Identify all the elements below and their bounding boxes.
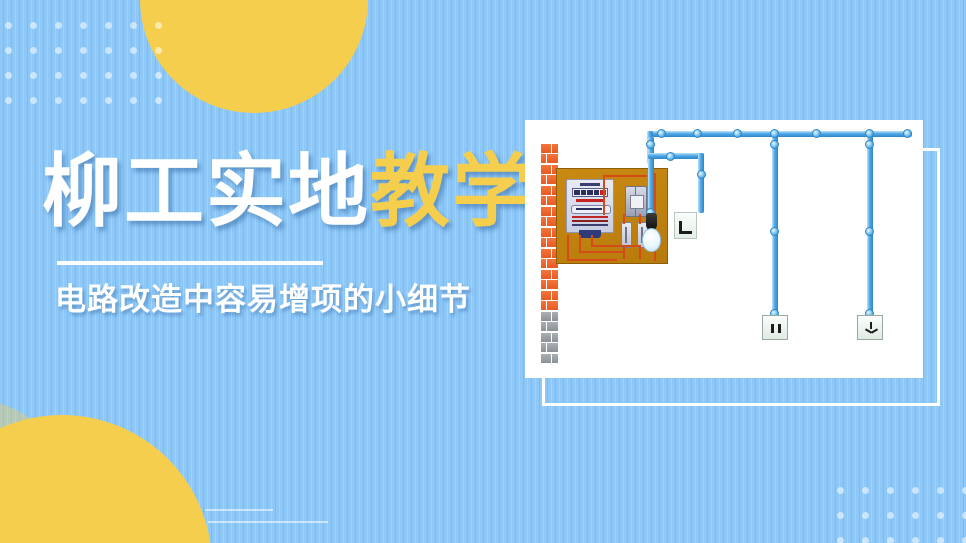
kwh-meter-icon (566, 179, 614, 233)
decor-line-lower (208, 521, 328, 523)
dot (96, 38, 121, 63)
wire-red-12 (639, 245, 641, 259)
junction-icon-3 (733, 129, 742, 138)
dot (21, 38, 46, 63)
two-pin-socket-icon (762, 315, 788, 340)
page-title: 柳工实地教学 (42, 152, 512, 232)
dot (903, 478, 928, 503)
wire-red-10 (639, 214, 641, 224)
dot (121, 13, 146, 38)
light-bulb-icon (642, 228, 661, 252)
wire-red-6 (591, 245, 639, 247)
junction-icon-7 (903, 129, 912, 138)
junction-icon-6 (865, 129, 874, 138)
dot (828, 528, 853, 543)
junction-icon-13 (770, 227, 779, 236)
dot (0, 88, 21, 113)
dot (46, 38, 71, 63)
dot (121, 38, 146, 63)
dot (121, 63, 146, 88)
dot (0, 13, 21, 38)
dot (953, 503, 966, 528)
dot (96, 63, 121, 88)
dot (853, 528, 878, 543)
dot (878, 478, 903, 503)
dot (146, 88, 171, 113)
page-subtitle: 电路改造中容易增项的小细节 (55, 281, 471, 318)
wire-red-9 (623, 214, 625, 224)
dot (0, 63, 21, 88)
junction-icon-16 (865, 227, 874, 236)
dot (46, 63, 71, 88)
dot (71, 88, 96, 113)
wire-red-11 (623, 245, 625, 259)
dot (928, 528, 953, 543)
dot (146, 63, 171, 88)
dot-grid-bottomright (828, 478, 966, 543)
dot (903, 503, 928, 528)
title-accent-text: 教学 (370, 147, 534, 236)
dot (953, 478, 966, 503)
dot (878, 503, 903, 528)
dot-grid-topleft (0, 13, 171, 113)
dot (96, 13, 121, 38)
junction-icon-9 (666, 152, 675, 161)
dot (46, 88, 71, 113)
dot (146, 13, 171, 38)
dot (71, 13, 96, 38)
junction-icon-8 (646, 140, 655, 149)
title-main-text: 柳工实地 (42, 147, 370, 236)
circuit-illustration (525, 120, 923, 378)
dot (121, 88, 146, 113)
dot (853, 478, 878, 503)
dot (878, 528, 903, 543)
dot (21, 88, 46, 113)
wall-switch-icon (674, 212, 697, 239)
wire-red-4 (579, 251, 623, 253)
dot (928, 478, 953, 503)
dot (46, 13, 71, 38)
junction-icon-5 (812, 129, 821, 138)
dot (928, 503, 953, 528)
dot (96, 88, 121, 113)
conduit-switch-horizontal (648, 153, 704, 159)
dot (71, 38, 96, 63)
decor-line-upper (205, 509, 273, 511)
wire-red-7 (603, 175, 605, 215)
poster-canvas: 柳工实地教学 电路改造中容易增项的小细节 (0, 0, 966, 543)
dot (853, 503, 878, 528)
wire-red-1 (567, 235, 569, 261)
circuit-breaker-icon (625, 186, 647, 217)
conduit-switch-drop (698, 153, 704, 213)
photo-card (525, 120, 923, 378)
dot (903, 528, 928, 543)
dot (21, 13, 46, 38)
dot (0, 38, 21, 63)
conduit-lamp-drop (648, 137, 654, 217)
wire-red-2 (567, 259, 617, 261)
dot (828, 478, 853, 503)
dot (828, 503, 853, 528)
title-divider-line (57, 261, 323, 265)
three-pin-socket-icon (857, 315, 883, 340)
dot (71, 63, 96, 88)
junction-icon-15 (865, 140, 874, 149)
title-block: 柳工实地教学 (42, 152, 512, 232)
junction-icon-12 (770, 140, 779, 149)
dot (953, 528, 966, 543)
dot (146, 38, 171, 63)
dot (21, 63, 46, 88)
junction-icon-4 (770, 129, 779, 138)
junction-icon-1 (657, 129, 666, 138)
junction-icon-10 (697, 170, 706, 179)
junction-icon-2 (693, 129, 702, 138)
wire-red-8 (603, 175, 647, 177)
